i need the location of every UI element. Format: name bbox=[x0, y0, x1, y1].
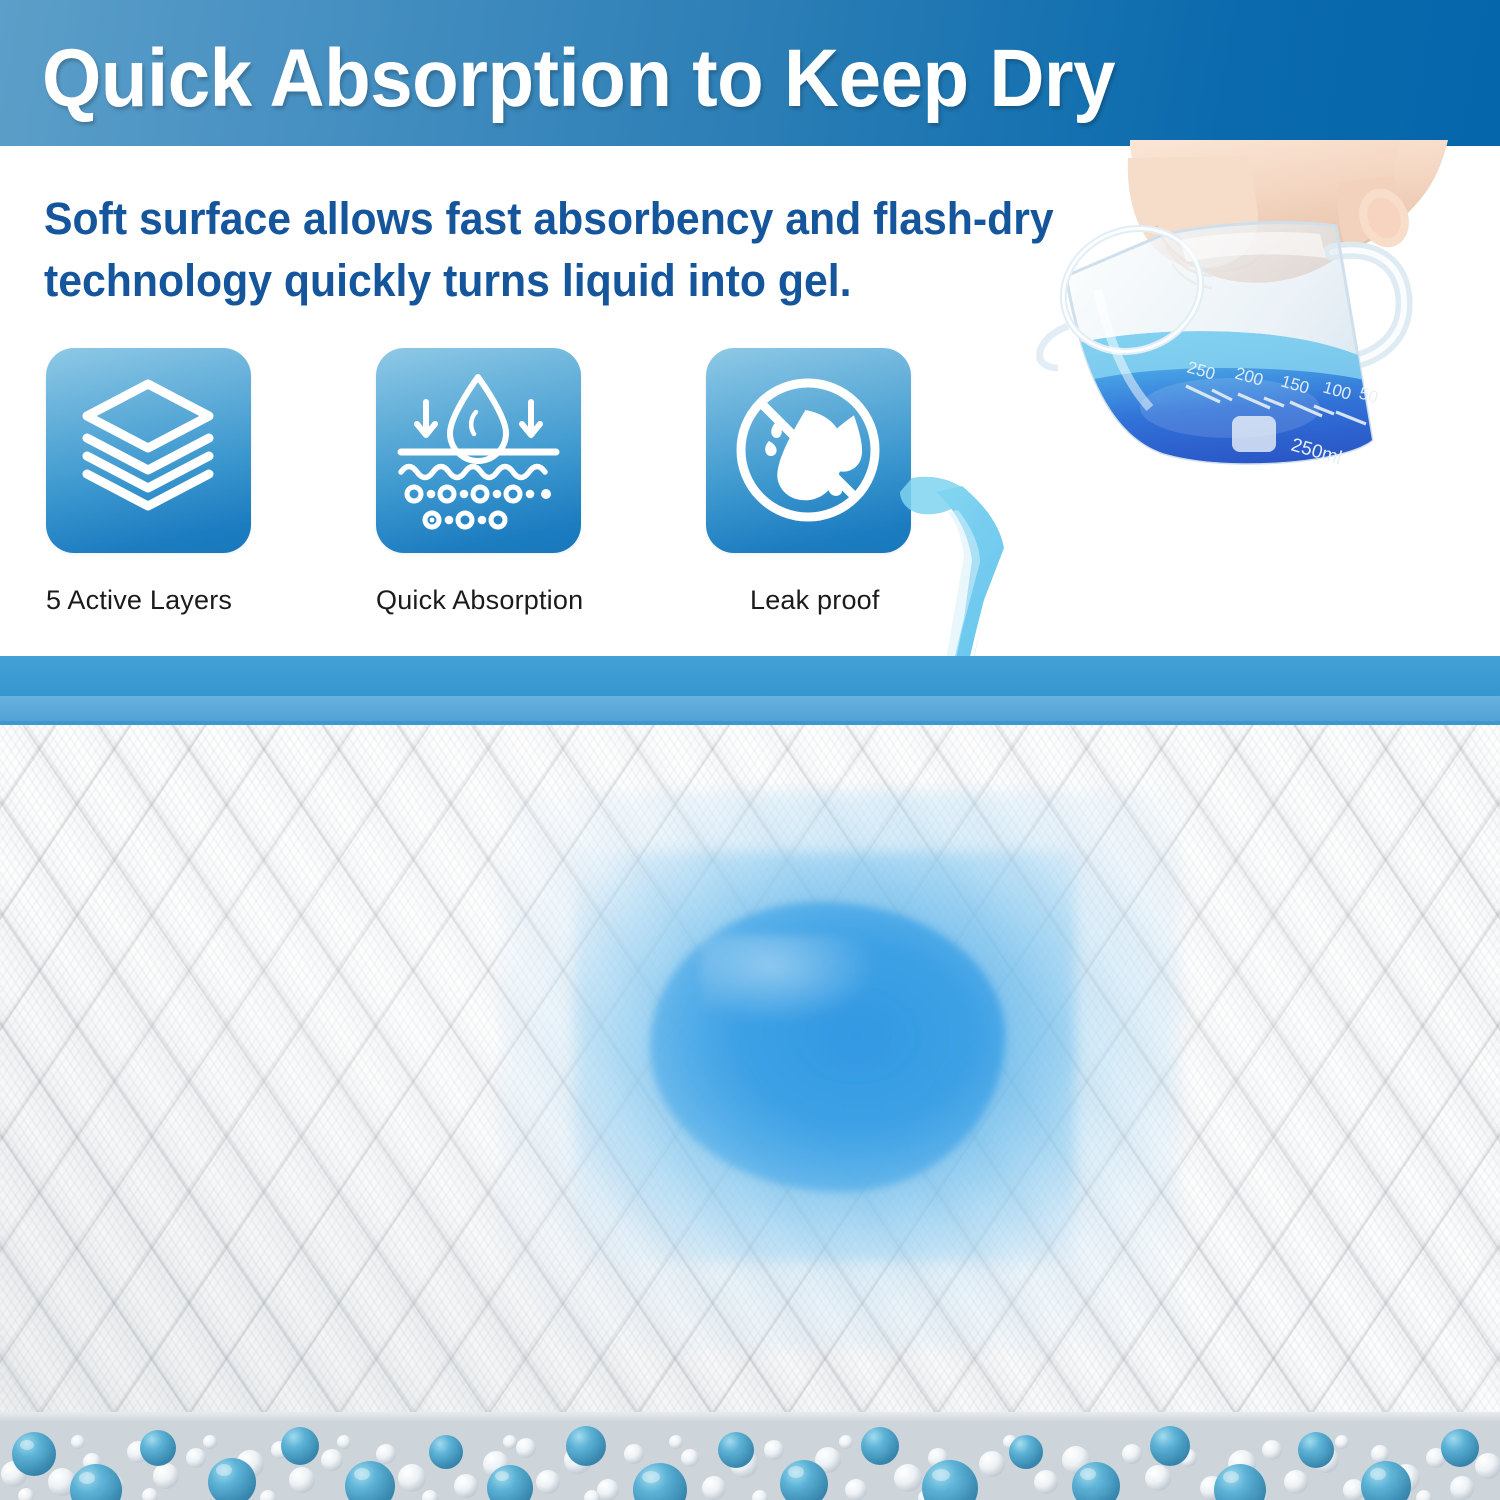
header-banner: Quick Absorption to Keep Dry bbox=[0, 0, 1500, 146]
feature-label: 5 Active Layers bbox=[46, 585, 318, 616]
product-feature-infographic: Quick Absorption to Keep Dry Soft surfac… bbox=[0, 0, 1500, 1500]
bead-strip-top-shade bbox=[0, 1412, 1500, 1422]
droplet-absorption-icon bbox=[376, 348, 581, 553]
feature-tile bbox=[706, 348, 911, 553]
feature-item-leakproof: Leak proof bbox=[706, 348, 978, 616]
feature-item-layers: 5 Active Layers bbox=[46, 348, 318, 616]
feature-item-absorption: Quick Absorption bbox=[376, 348, 648, 616]
sap-gel-bead-strip bbox=[0, 1412, 1500, 1500]
intro-panel: Soft surface allows fast absorbency and … bbox=[0, 146, 1500, 656]
no-water-droplet-icon bbox=[706, 348, 911, 553]
pad-lighting-overlay bbox=[0, 725, 1500, 1412]
gel-beads-illustration bbox=[0, 1412, 1500, 1500]
pad-binding-shadow bbox=[0, 696, 1500, 721]
pad-blue-binding-strip bbox=[0, 656, 1500, 696]
layers-stack-icon bbox=[46, 348, 251, 553]
intro-subtitle: Soft surface allows fast absorbency and … bbox=[44, 188, 1099, 312]
feature-label: Quick Absorption bbox=[376, 585, 648, 616]
feature-list: 5 Active Layers bbox=[46, 348, 946, 608]
feature-label: Leak proof bbox=[750, 585, 978, 616]
absorbent-pad-region bbox=[0, 656, 1500, 1412]
page-title: Quick Absorption to Keep Dry bbox=[42, 32, 1115, 126]
feature-tile bbox=[376, 348, 581, 553]
feature-tile bbox=[46, 348, 251, 553]
